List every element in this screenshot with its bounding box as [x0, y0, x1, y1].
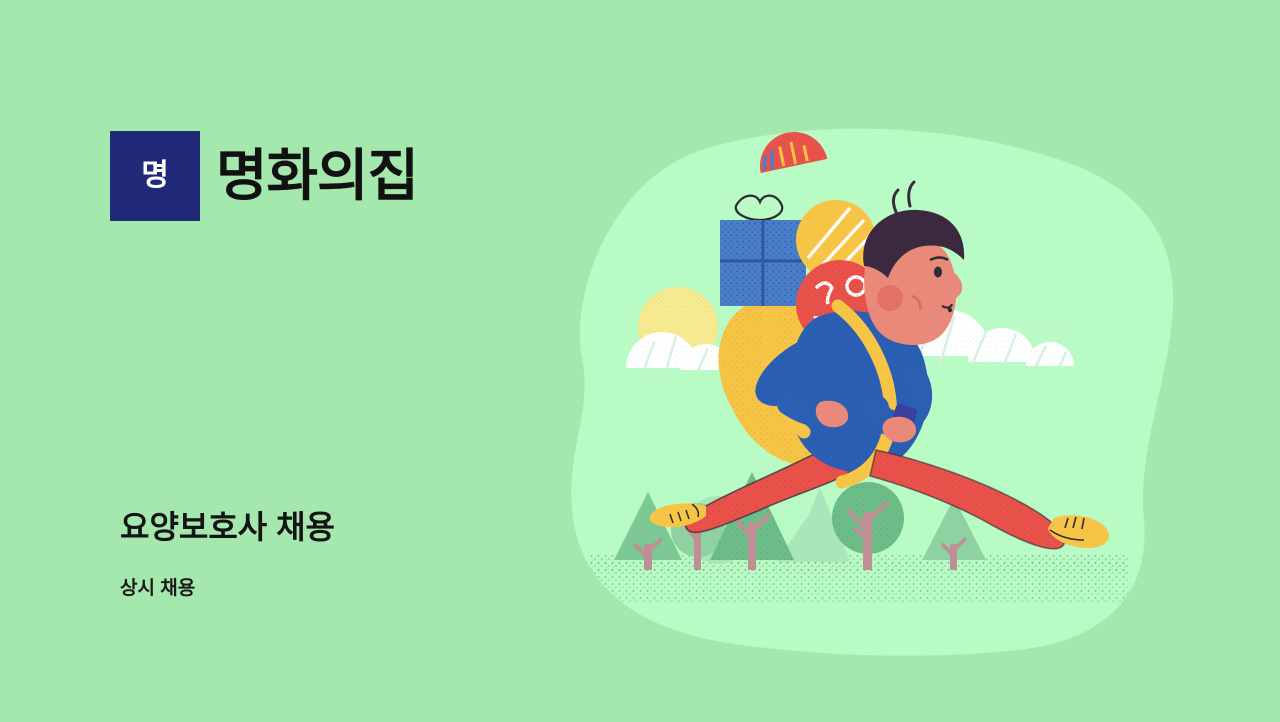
- grass-band: [590, 555, 1130, 603]
- poster-canvas: 명 명화의집 요양보호사 채용 상시 채용: [0, 0, 1280, 722]
- company-name: 명화의집: [216, 148, 418, 204]
- company-logo-glyph: 명: [141, 161, 169, 191]
- brand-header: 명 명화의집: [110, 131, 418, 221]
- company-logo-badge: 명: [110, 131, 200, 221]
- job-posting-title: 요양보호사 채용: [120, 508, 335, 546]
- hero-illustration: [520, 120, 1180, 660]
- job-posting-subtitle: 상시 채용: [120, 578, 195, 601]
